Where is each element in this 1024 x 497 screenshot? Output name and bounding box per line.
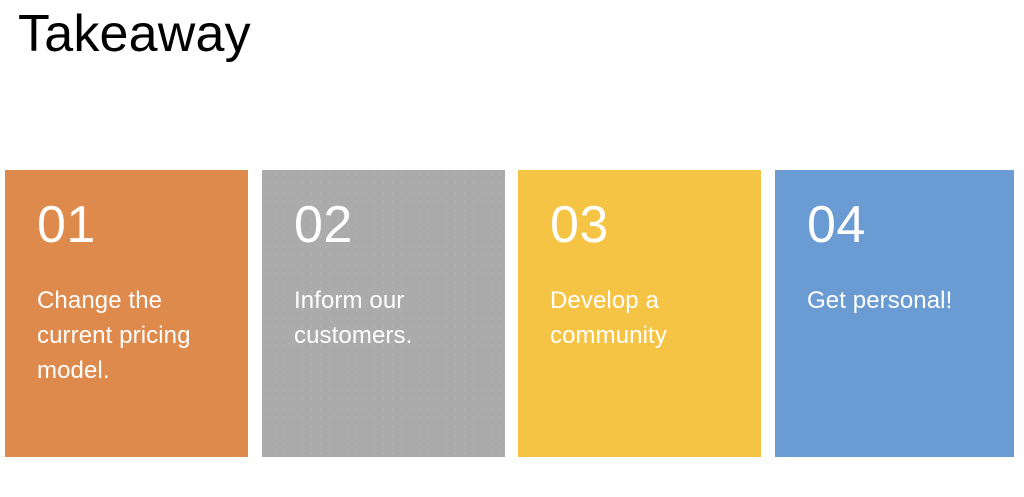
slide-canvas: Takeaway 01 Change the current pricing m… xyxy=(0,0,1024,497)
card-number-label: 04 xyxy=(807,198,992,253)
card-number-label: 02 xyxy=(294,198,483,253)
card-body-text: Inform our customers. xyxy=(294,283,483,353)
card-body-text: Change the current pricing model. xyxy=(37,283,226,388)
takeaway-card-02[interactable]: 02 Inform our customers. xyxy=(262,170,505,457)
takeaway-card-01[interactable]: 01 Change the current pricing model. xyxy=(5,170,248,457)
takeaway-card-04[interactable]: 04 Get personal! xyxy=(775,170,1014,457)
card-number-label: 03 xyxy=(550,198,739,253)
card-body-text: Develop a community xyxy=(550,283,739,353)
page-title: Takeaway xyxy=(18,6,251,63)
takeaway-card-group: 01 Change the current pricing model. 02 … xyxy=(0,170,1024,457)
takeaway-card-03[interactable]: 03 Develop a community xyxy=(518,170,761,457)
card-body-text: Get personal! xyxy=(807,283,992,318)
card-number-label: 01 xyxy=(37,198,226,253)
